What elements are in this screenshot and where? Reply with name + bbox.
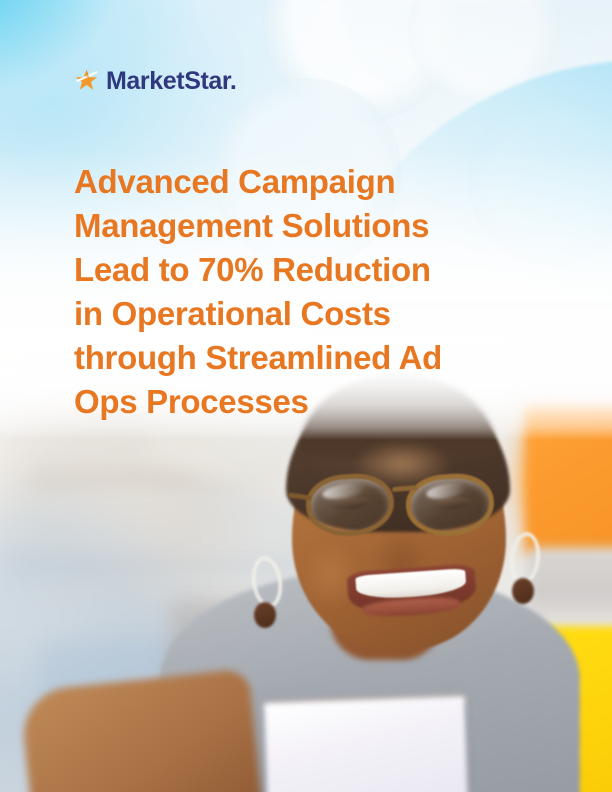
earring-bead-left [254, 602, 276, 628]
nose [372, 528, 430, 572]
headline-line-6: Ops Processes [74, 380, 504, 424]
arm [19, 668, 262, 792]
hoop-earring-right [507, 531, 542, 586]
logo-wordmark: MarketStar. [106, 69, 236, 94]
star-icon [74, 68, 99, 94]
earring-bead-right [512, 578, 534, 604]
headline-line-2: Management Solutions [74, 204, 504, 248]
cover-page: MarketStar. Advanced Campaign Management… [0, 0, 612, 792]
page-title: Advanced Campaign Management Solutions L… [74, 160, 504, 424]
held-paper [264, 697, 468, 792]
headline-line-5: through Streamlined Ad [74, 336, 504, 380]
headline-line-4: in Operational Costs [74, 292, 504, 336]
headline-line-3: Lead to 70% Reduction [74, 248, 504, 292]
marketstar-logo[interactable]: MarketStar. [74, 68, 236, 94]
headline-line-1: Advanced Campaign [74, 160, 504, 204]
